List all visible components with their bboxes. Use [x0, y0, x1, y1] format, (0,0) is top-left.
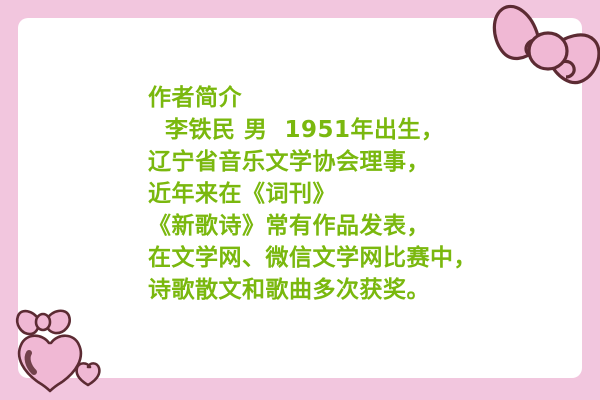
bio-line-2: 李铁民 男 1951年出生， — [148, 114, 578, 146]
bio-line-5: 《新歌诗》常有作品发表， — [148, 210, 578, 242]
bio-line-6: 在文学网、微信文学网比赛中， — [148, 242, 578, 274]
bio-line-1: 作者简介 — [148, 82, 578, 114]
bio-line-7: 诗歌散文和歌曲多次获奖。 — [148, 274, 578, 306]
greeting-card: 作者简介 李铁民 男 1951年出生， 辽宁省音乐文学协会理事， 近年来在《词刊… — [0, 0, 600, 400]
bio-line-3: 辽宁省音乐文学协会理事， — [148, 146, 578, 178]
bio-line-4: 近年来在《词刊》 — [148, 178, 578, 210]
author-bio-text: 作者简介 李铁民 男 1951年出生， 辽宁省音乐文学协会理事， 近年来在《词刊… — [148, 82, 578, 306]
